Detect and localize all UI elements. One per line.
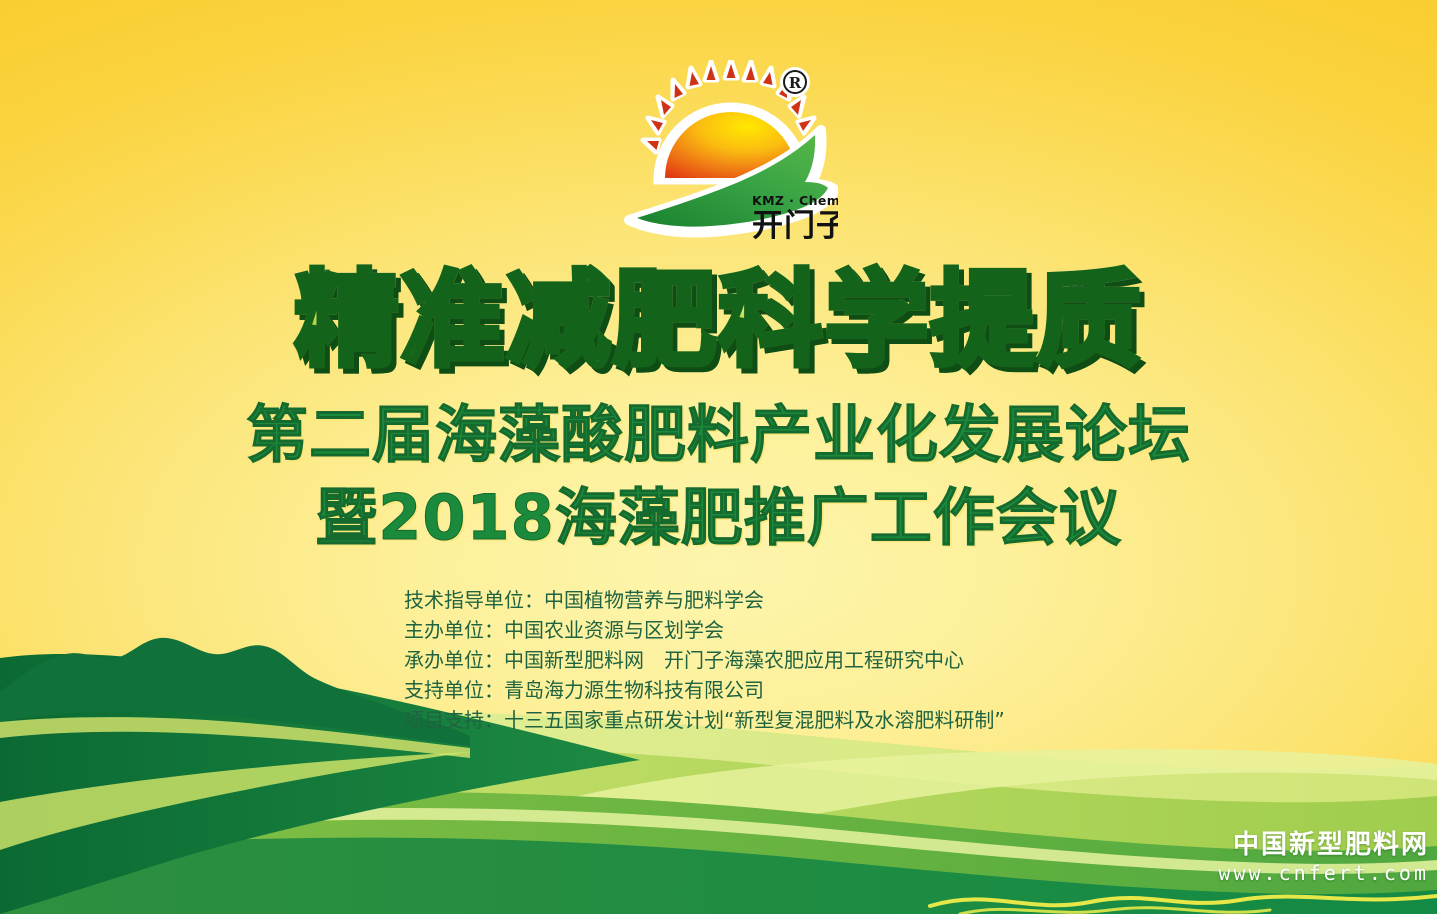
info-line-technical-guidance: 技术指导单位：中国植物营养与肥料学会	[404, 585, 1164, 615]
subtitle-line-2-wrap: 暨2018海藻肥推广工作会议	[0, 487, 1437, 549]
info-line-project-support: 项目支持：十三五国家重点研发计划“新型复混肥料及水溶肥料研制”	[404, 705, 1164, 735]
watermark-url: www.cnfert.com	[1218, 860, 1429, 886]
logo-chinese-name: 开门子	[752, 208, 838, 244]
headline-part-2: 科学提质	[719, 268, 1143, 372]
subtitle-line-1: 第二届海藻酸肥料产业化发展论坛	[246, 404, 1191, 466]
info-line-organizer: 承办单位：中国新型肥料网 开门子海藻农肥应用工程研究中心	[404, 645, 1164, 675]
logo-latin-name: KMZ · Chemical	[752, 193, 838, 208]
main-headline: 精准减肥科学提质	[0, 268, 1437, 372]
watermark-site-name: 中国新型肥料网	[1218, 830, 1429, 860]
organizer-info-block: 技术指导单位：中国植物营养与肥料学会 主办单位：中国农业资源与区划学会 承办单位…	[404, 585, 1164, 735]
svg-text:R: R	[789, 74, 802, 92]
info-line-host: 主办单位：中国农业资源与区划学会	[404, 615, 1164, 645]
info-line-supporter: 支持单位：青岛海力源生物科技有限公司	[404, 675, 1164, 705]
kmz-chemical-logo: R KMZ · Chemical 开门子	[623, 60, 838, 245]
site-watermark: 中国新型肥料网 www.cnfert.com	[1218, 830, 1429, 886]
subtitle-line-2: 暨2018海藻肥推广工作会议	[315, 487, 1122, 549]
headline-part-1: 精准减肥	[294, 268, 718, 372]
subtitle-line-1-wrap: 第二届海藻酸肥料产业化发展论坛	[0, 404, 1437, 466]
registered-trademark-icon: R	[780, 67, 810, 97]
conference-banner-poster: R KMZ · Chemical 开门子 精准减肥科学提质 第二届海藻酸肥料产业…	[0, 0, 1437, 914]
